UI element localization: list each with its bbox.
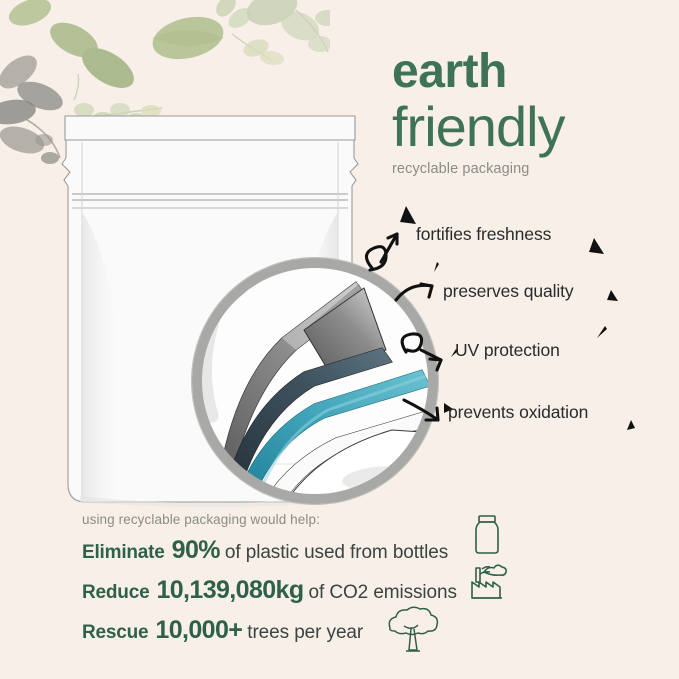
stat-row-rescue: Rescue 10,000+ trees per year [82,616,582,645]
headline-line-2: friendly [392,98,672,155]
factory-smoke-icon [468,560,510,600]
stat-verb: Rescue [82,622,148,644]
stat-value: 10,000+ [155,616,242,645]
tree-icon [378,606,444,658]
magnifier-cross-section [186,252,444,510]
headline-line-1: earth [392,48,672,96]
headline-subtitle: recyclable packaging [392,161,672,177]
product-infographic: earth friendly recyclable packaging fort… [0,0,679,679]
stat-value: 90% [172,536,220,565]
stat-verb: Reduce [82,582,149,604]
stat-tail: of CO2 emissions [309,582,457,604]
stats-intro-text: using recyclable packaging would help: [82,512,582,527]
stat-tail: trees per year [247,622,363,644]
feature-label-uv-protection: UV protection [455,340,560,361]
stat-verb: Eliminate [82,542,165,564]
feature-label-fortifies-freshness: fortifies freshness [416,224,551,245]
feature-label-preserves-quality: preserves quality [443,281,574,302]
headline-block: earth friendly recyclable packaging [392,48,672,177]
stat-value: 10,139,080kg [156,576,303,605]
bottle-icon [470,514,504,558]
stat-tail: of plastic used from bottles [225,542,448,564]
feature-label-prevents-oxidation: prevents oxidation [448,402,588,423]
